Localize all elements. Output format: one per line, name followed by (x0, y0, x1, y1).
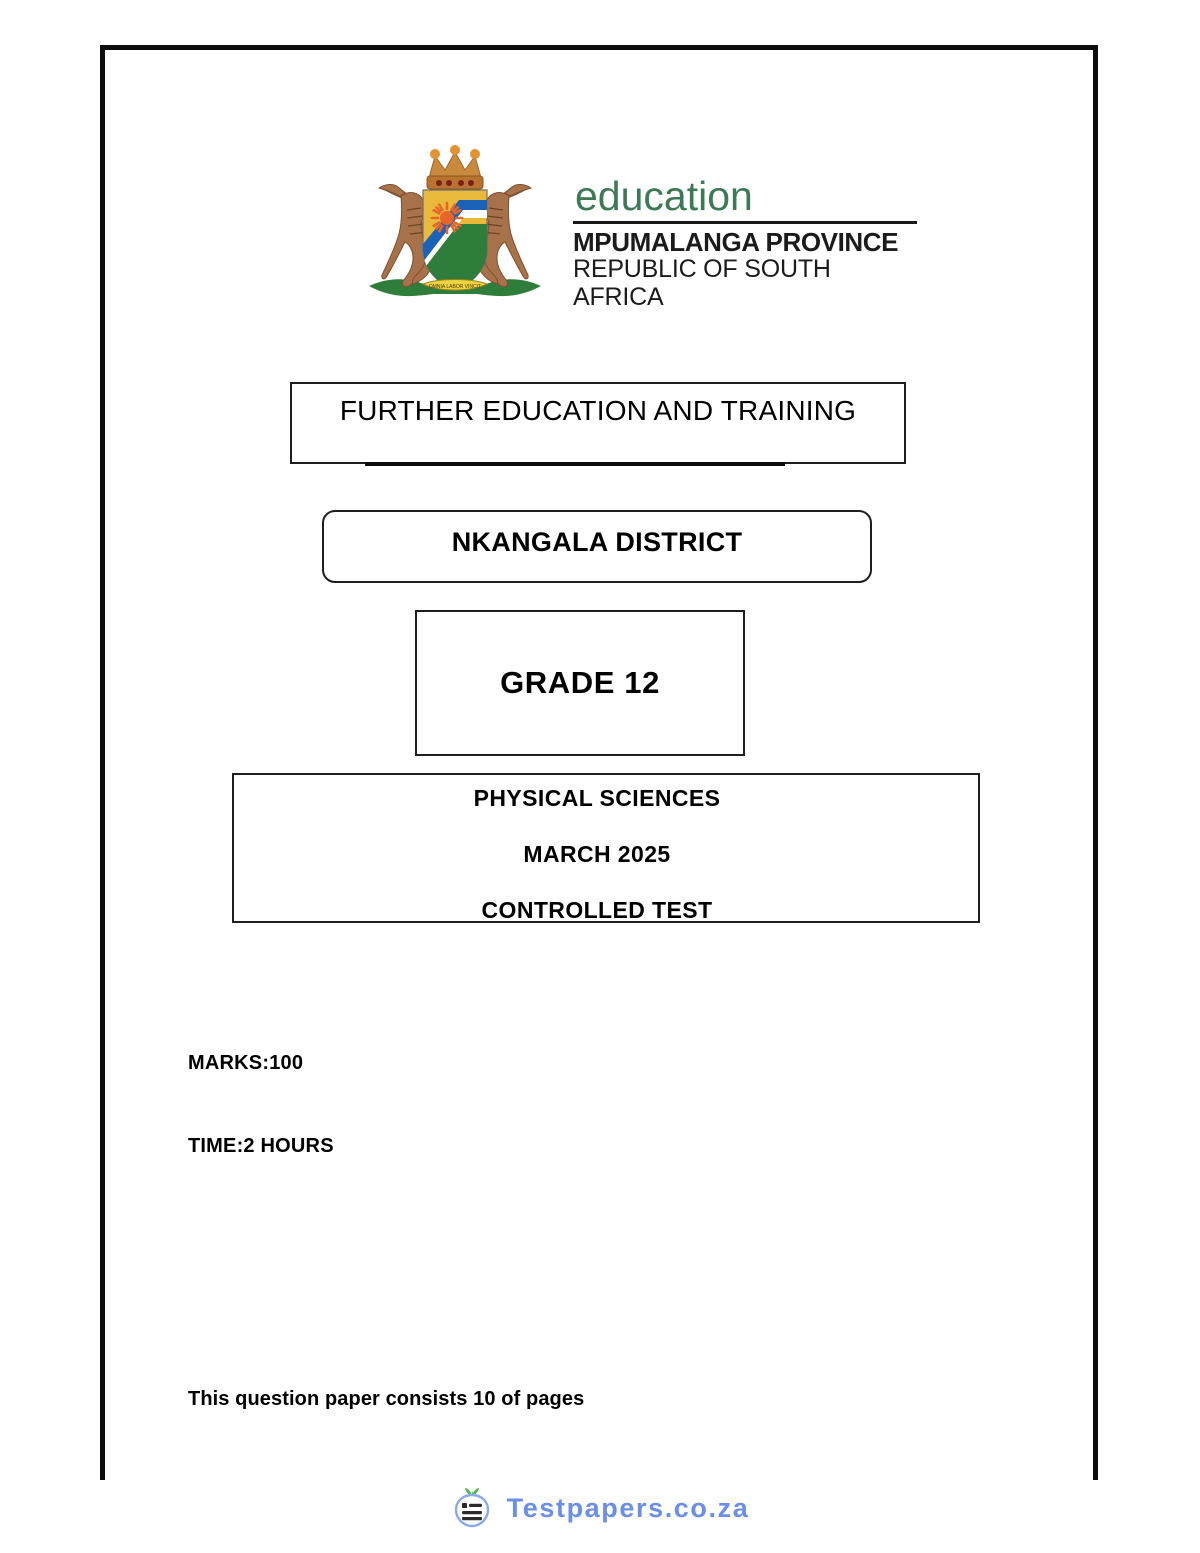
exam-date-label: MARCH 2025 (234, 841, 960, 868)
page-count-note: This question paper consists 10 of pages (188, 1388, 584, 1411)
testpapers-watermark: Testpapers.co.za (0, 1487, 1200, 1529)
district-box: NKANGALA DISTRICT (322, 510, 872, 583)
marks-label: MARKS:100 (188, 1052, 303, 1075)
education-wordmark-text: education (573, 176, 925, 216)
department-wordmark: education MPUMALANGA PROVINCE REPUBLIC O… (573, 176, 925, 311)
province-name-text: MPUMALANGA PROVINCE (573, 228, 925, 256)
subject-details-lines: PHYSICAL SCIENCES MARCH 2025 CONTROLLED … (234, 785, 960, 924)
subject-details-box: PHYSICAL SCIENCES MARCH 2025 CONTROLLED … (232, 773, 980, 923)
fet-box-underline-artifact (365, 462, 785, 466)
grade-box: GRADE 12 (415, 610, 745, 756)
district-label: NKANGALA DISTRICT (452, 527, 743, 558)
mpumalanga-coat-of-arms-icon: OMNIA LABOR VINCIT (355, 138, 555, 318)
wordmark-divider-rule (573, 221, 917, 224)
further-education-training-label: FURTHER EDUCATION AND TRAINING (340, 395, 856, 427)
department-letterhead: OMNIA LABOR VINCIT education MPUMALANGA … (355, 138, 935, 318)
testpapers-label: Testpapers.co.za (507, 1493, 750, 1524)
subject-name-label: PHYSICAL SCIENCES (234, 785, 960, 812)
country-name-text: REPUBLIC OF SOUTH AFRICA (573, 256, 925, 311)
grade-label: GRADE 12 (500, 665, 660, 701)
time-label: TIME:2 HOURS (188, 1135, 334, 1158)
apple-document-icon (451, 1487, 493, 1529)
further-education-training-box: FURTHER EDUCATION AND TRAINING (290, 382, 906, 464)
svg-text:OMNIA LABOR VINCIT: OMNIA LABOR VINCIT (429, 284, 481, 290)
assessment-type-label: CONTROLLED TEST (234, 897, 960, 924)
